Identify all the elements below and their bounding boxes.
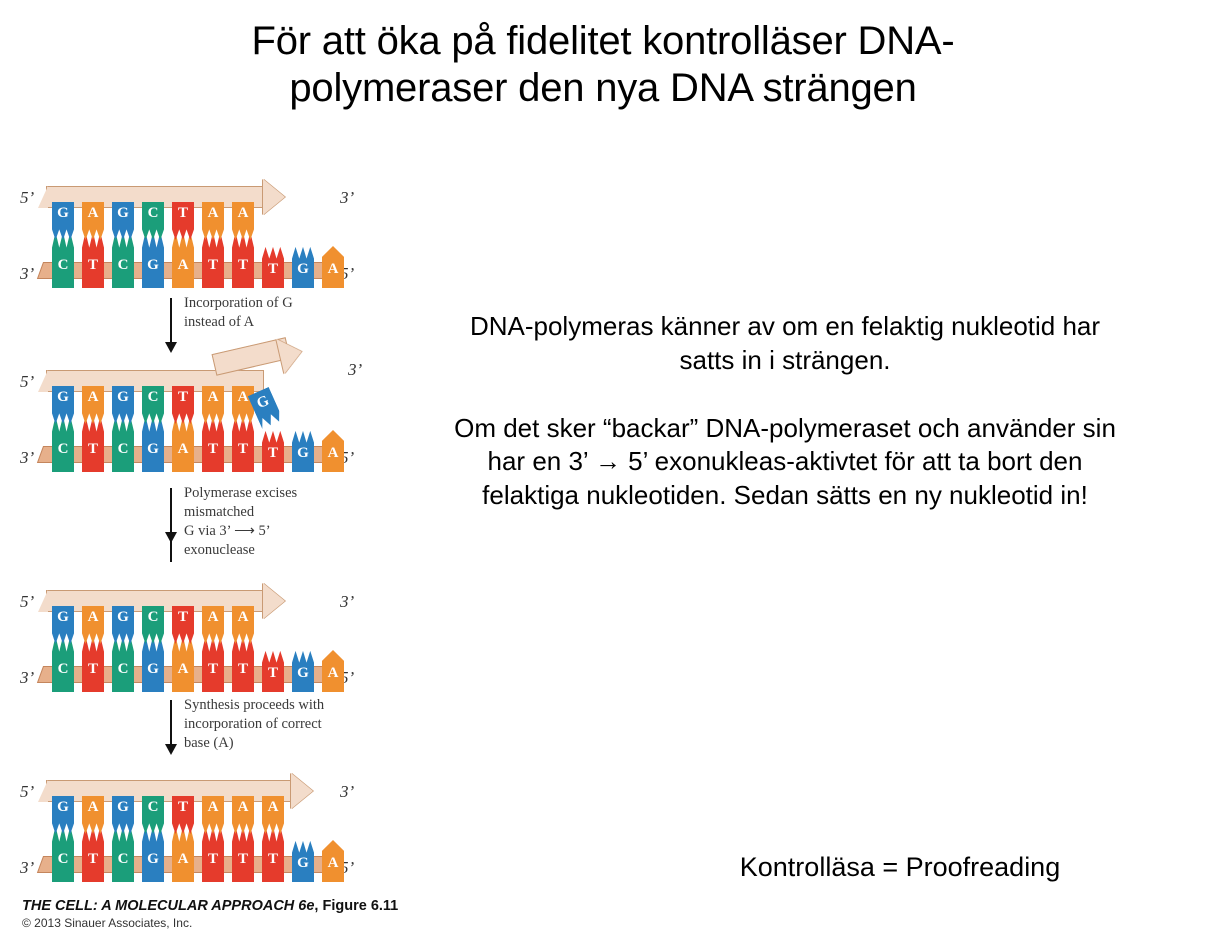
new-strand-base-A: A: [232, 386, 254, 424]
new-strand-base-C: C: [142, 796, 164, 834]
template-base-T: T: [202, 826, 224, 882]
new-strand-base-A: A: [202, 606, 224, 644]
template-base-G: G: [292, 246, 314, 288]
credit-line-1: THE CELL: A MOLECULAR APPROACH 6e, Figur…: [22, 898, 492, 914]
template-base-T: T: [232, 416, 254, 472]
template-base-A: A: [172, 826, 194, 882]
template-base-G: G: [142, 416, 164, 472]
template-base-A: A: [322, 650, 344, 692]
new-strand-base-A: A: [82, 606, 104, 644]
new-strand-base-G: G: [52, 796, 74, 834]
new-strand-base-A: A: [82, 386, 104, 424]
new-strand-arrowhead-icon: [263, 179, 285, 215]
template-base-C: C: [52, 636, 74, 692]
step-3-line-1: Synthesis proceeds with: [184, 696, 374, 715]
template-base-C: C: [52, 826, 74, 882]
new-strand-arrowhead-icon: [263, 583, 285, 619]
credit-book-title: THE CELL: A MOLECULAR APPROACH 6e: [22, 898, 314, 914]
template-base-T: T: [262, 430, 284, 472]
template-base-G: G: [142, 826, 164, 882]
template-base-T: T: [82, 826, 104, 882]
new-strand-base-A: A: [232, 796, 254, 834]
template-base-T: T: [232, 232, 254, 288]
new-strand-base-A: A: [232, 606, 254, 644]
prime-label-top-left: 5’: [20, 188, 34, 208]
credit-figure-number: , Figure 6.11: [314, 898, 398, 914]
new-strand-base-G: G: [52, 202, 74, 240]
prime-label-bottom-left: 3’: [20, 668, 34, 688]
new-strand-base-T: T: [172, 386, 194, 424]
step-1-line-2: instead of A: [184, 313, 374, 332]
dna-panel-corrected: 5’ 3’ 3’ 5’ CTCGATTTGAGAGCTAAA: [18, 770, 370, 890]
proofreading-footnote: Kontrolläsa = Proofreading: [620, 852, 1180, 883]
template-base-G: G: [292, 840, 314, 882]
dna-panel-initial: 5’ 3’ 3’ 5’ CTCGATTTGAGAGCTAA: [18, 176, 370, 296]
prime-label-top-right: 3’: [340, 782, 354, 802]
new-strand-base-A: A: [202, 796, 224, 834]
step-2-line-2: mismatched: [184, 503, 374, 522]
prime-label-bottom-left: 3’: [20, 264, 34, 284]
template-base-G: G: [142, 232, 164, 288]
prime-label-bottom-left: 3’: [20, 858, 34, 878]
template-base-T: T: [262, 246, 284, 288]
new-strand-base-G: G: [112, 606, 134, 644]
template-base-C: C: [112, 232, 134, 288]
new-strand-base-C: C: [142, 386, 164, 424]
step-2-line-3: G via 3’ ⟶ 5’: [184, 522, 374, 541]
down-arrow-icon: [170, 488, 172, 562]
step-2-caption: Polymerase excises mismatched G via 3’ ⟶…: [184, 484, 374, 559]
new-strand-base-T: T: [172, 202, 194, 240]
title-line-2: polymeraser den nya DNA strängen: [60, 65, 1146, 112]
new-strand-base-C: C: [142, 202, 164, 240]
new-strand-arrowhead-icon: [276, 334, 306, 374]
prime-label-top-right: 3’: [348, 360, 362, 380]
new-strand-arrowhead-icon: [291, 773, 313, 809]
slide: För att öka på fidelitet kontrolläser DN…: [0, 0, 1206, 938]
template-base-T: T: [82, 416, 104, 472]
new-strand-base-A: A: [82, 796, 104, 834]
template-base-A: A: [172, 416, 194, 472]
template-base-T: T: [202, 416, 224, 472]
template-base-T: T: [232, 826, 254, 882]
step-3-caption: Synthesis proceeds with incorporation of…: [184, 696, 374, 753]
step-3-line-2: incorporation of correct: [184, 715, 374, 734]
template-base-A: A: [172, 636, 194, 692]
template-base-A: A: [322, 840, 344, 882]
template-base-T: T: [202, 232, 224, 288]
template-base-G: G: [292, 650, 314, 692]
step-2-line-1: Polymerase excises: [184, 484, 374, 503]
new-strand-base-G: G: [112, 202, 134, 240]
template-base-T: T: [232, 636, 254, 692]
down-arrow-icon: [170, 298, 172, 346]
new-strand-base-A: A: [202, 386, 224, 424]
new-strand-base-A: A: [262, 796, 284, 834]
prime-label-top-left: 5’: [20, 372, 34, 392]
prime-label-bottom-left: 3’: [20, 448, 34, 468]
down-arrow-icon: [170, 700, 172, 752]
body-paragraph-2: Om det sker “backar” DNA-polymeraset och…: [440, 412, 1130, 513]
template-base-C: C: [112, 826, 134, 882]
new-strand-base-T: T: [172, 606, 194, 644]
template-base-C: C: [112, 636, 134, 692]
prime-label-top-left: 5’: [20, 592, 34, 612]
new-strand-base-G: G: [52, 386, 74, 424]
template-base-A: A: [322, 430, 344, 472]
slide-title: För att öka på fidelitet kontrolläser DN…: [60, 18, 1146, 112]
step-3-line-3: base (A): [184, 734, 374, 753]
credit-line-2: © 2013 Sinauer Associates, Inc.: [22, 916, 492, 930]
template-base-T: T: [262, 650, 284, 692]
prime-label-top-right: 3’: [340, 188, 354, 208]
template-base-A: A: [322, 246, 344, 288]
template-base-G: G: [292, 430, 314, 472]
step-1-caption: Incorporation of G instead of A: [184, 294, 374, 332]
template-base-T: T: [82, 232, 104, 288]
new-strand-base-A: A: [202, 202, 224, 240]
step-1-line-1: Incorporation of G: [184, 294, 374, 313]
new-strand-base-G: G: [112, 386, 134, 424]
prime-label-top-right: 3’: [340, 592, 354, 612]
template-base-T: T: [82, 636, 104, 692]
template-base-C: C: [52, 416, 74, 472]
title-line-1: För att öka på fidelitet kontrolläser DN…: [251, 19, 954, 63]
template-base-A: A: [172, 232, 194, 288]
new-strand-base-T: T: [172, 796, 194, 834]
template-base-T: T: [202, 636, 224, 692]
dna-panel-excised: 5’ 3’ 3’ 5’ CTCGATTTGAGAGCTAA: [18, 580, 370, 700]
prime-label-top-left: 5’: [20, 782, 34, 802]
new-strand-base-A: A: [82, 202, 104, 240]
body-paragraph-1: DNA-polymeras känner av om en felaktig n…: [440, 310, 1130, 378]
new-strand-base-G: G: [52, 606, 74, 644]
template-base-T: T: [262, 826, 284, 882]
template-base-G: G: [142, 636, 164, 692]
figure-credit: THE CELL: A MOLECULAR APPROACH 6e, Figur…: [22, 898, 492, 930]
template-base-C: C: [112, 416, 134, 472]
proofreading-figure: 5’ 3’ 3’ 5’ CTCGATTTGAGAGCTAA Incorporat…: [18, 176, 370, 932]
body-text-block: DNA-polymeras känner av om en felaktig n…: [440, 310, 1130, 513]
new-strand-base-G: G: [112, 796, 134, 834]
new-strand-base-A: A: [232, 202, 254, 240]
template-base-C: C: [52, 232, 74, 288]
step-2-line-4: exonuclease: [184, 541, 374, 560]
new-strand-base-C: C: [142, 606, 164, 644]
dna-panel-mismatch: 5’ 3’ 3’ 5’ CTCGATTTGAGAGCTAA G: [18, 360, 370, 480]
